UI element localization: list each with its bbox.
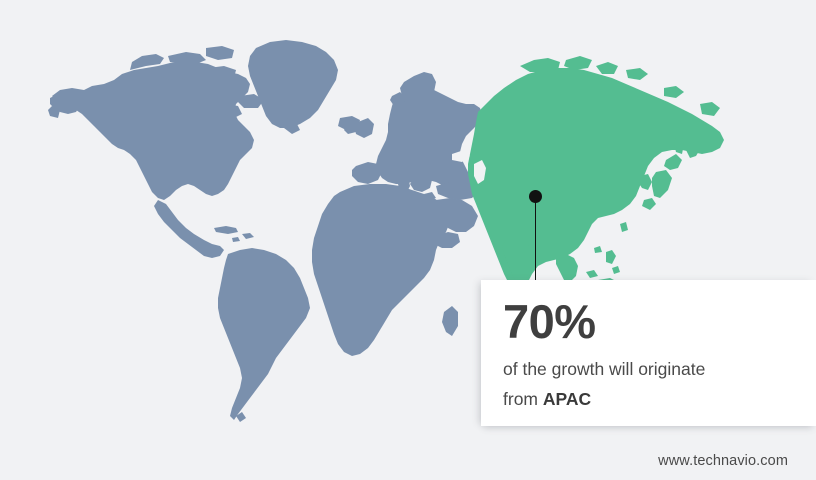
growth-percentage-figure: 70% [503, 296, 792, 348]
apac-callout-card: 70% of the growth will originate from AP… [481, 280, 816, 426]
source-watermark: www.technavio.com [658, 453, 788, 469]
callout-line-1: of the growth will originate [503, 359, 705, 379]
callout-description: of the growth will originate from APAC [503, 354, 778, 414]
callout-region-label: APAC [543, 389, 591, 409]
callout-line-2-prefix: from [503, 389, 543, 409]
infographic-canvas: 70% of the growth will originate from AP… [0, 0, 816, 480]
